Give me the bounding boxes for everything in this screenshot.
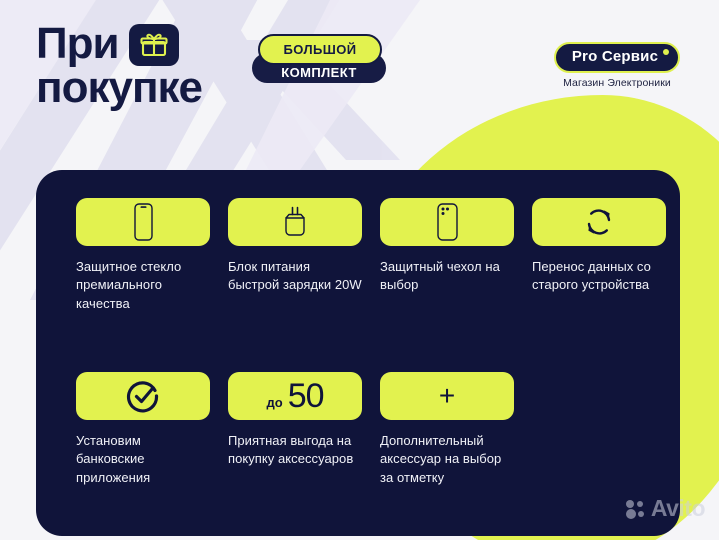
feature-item: Установим банковские приложения: [76, 372, 210, 487]
feature-item: до 50 Приятная выгода на покупку аксессу…: [228, 372, 362, 487]
avito-label: Avito: [651, 495, 705, 522]
discount-prefix: до: [266, 395, 282, 410]
feature-caption: Защитное стекло премиального качества: [76, 258, 210, 313]
logo-subtitle: Магазин Электроники: [537, 77, 697, 89]
feature-caption: Приятная выгода на покупку аксессуаров: [228, 432, 362, 469]
sync-arrows-icon: [583, 207, 615, 237]
banner-header: При покупке КОМПЛЕКТ БОЛЬШОЙ Pro: [0, 0, 719, 170]
feature-caption: Установим банковские приложения: [76, 432, 210, 487]
avito-logo-icon: [626, 500, 646, 518]
feature-item: Защитный чехол на выбор: [380, 198, 514, 313]
brand-logo: Pro Сервис Магазин Электроники: [537, 42, 697, 89]
feature-item: Блок питания быстрой зарядки 20W: [228, 198, 362, 313]
power-adapter-icon: [280, 205, 310, 239]
discount-number: до 50: [266, 379, 323, 413]
promo-badges: КОМПЛЕКТ БОЛЬШОЙ: [252, 34, 392, 106]
logo-pill: Pro Сервис: [554, 42, 680, 73]
features-card: Защитное стекло премиального качества Бл…: [36, 170, 680, 536]
discount-value: 50: [288, 379, 324, 413]
feature-item: Перенос данных со старого устройства: [532, 198, 666, 313]
phone-screen-icon: [134, 203, 153, 241]
feature-item-empty: [532, 372, 666, 487]
feature-tile: [228, 198, 362, 246]
features-row-1: Защитное стекло премиального качества Бл…: [76, 198, 658, 313]
feature-caption: Перенос данных со старого устройства: [532, 258, 666, 295]
page-title: При покупке: [36, 22, 266, 109]
phone-case-icon: [437, 203, 458, 241]
plus-icon: +: [439, 382, 455, 410]
feature-tile: до 50: [228, 372, 362, 420]
feature-tile: +: [380, 372, 514, 420]
feature-tile: [76, 198, 210, 246]
feature-tile: [380, 198, 514, 246]
feature-tile: [76, 372, 210, 420]
logo-dot-icon: [663, 49, 669, 55]
feature-item: Защитное стекло премиального качества: [76, 198, 210, 313]
features-row-2: Установим банковские приложения до 50 Пр…: [76, 372, 658, 487]
badge-bolshoy: БОЛЬШОЙ: [258, 34, 382, 65]
feature-item: + Дополнительный аксессуар на выбор за о…: [380, 372, 514, 487]
feature-caption: Защитный чехол на выбор: [380, 258, 514, 295]
feature-caption: Блок питания быстрой зарядки 20W: [228, 258, 362, 295]
headline-line-1: При: [36, 22, 119, 65]
banner-stage: При покупке КОМПЛЕКТ БОЛЬШОЙ Pro: [0, 0, 719, 540]
logo-name: Pro Сервис: [572, 48, 658, 65]
headline-line-2: покупке: [36, 66, 266, 109]
feature-tile: [532, 198, 666, 246]
check-circle-icon: [126, 379, 160, 413]
gift-icon: [129, 24, 179, 66]
feature-caption: Дополнительный аксессуар на выбор за отм…: [380, 432, 514, 487]
avito-watermark: Avito: [626, 495, 705, 522]
